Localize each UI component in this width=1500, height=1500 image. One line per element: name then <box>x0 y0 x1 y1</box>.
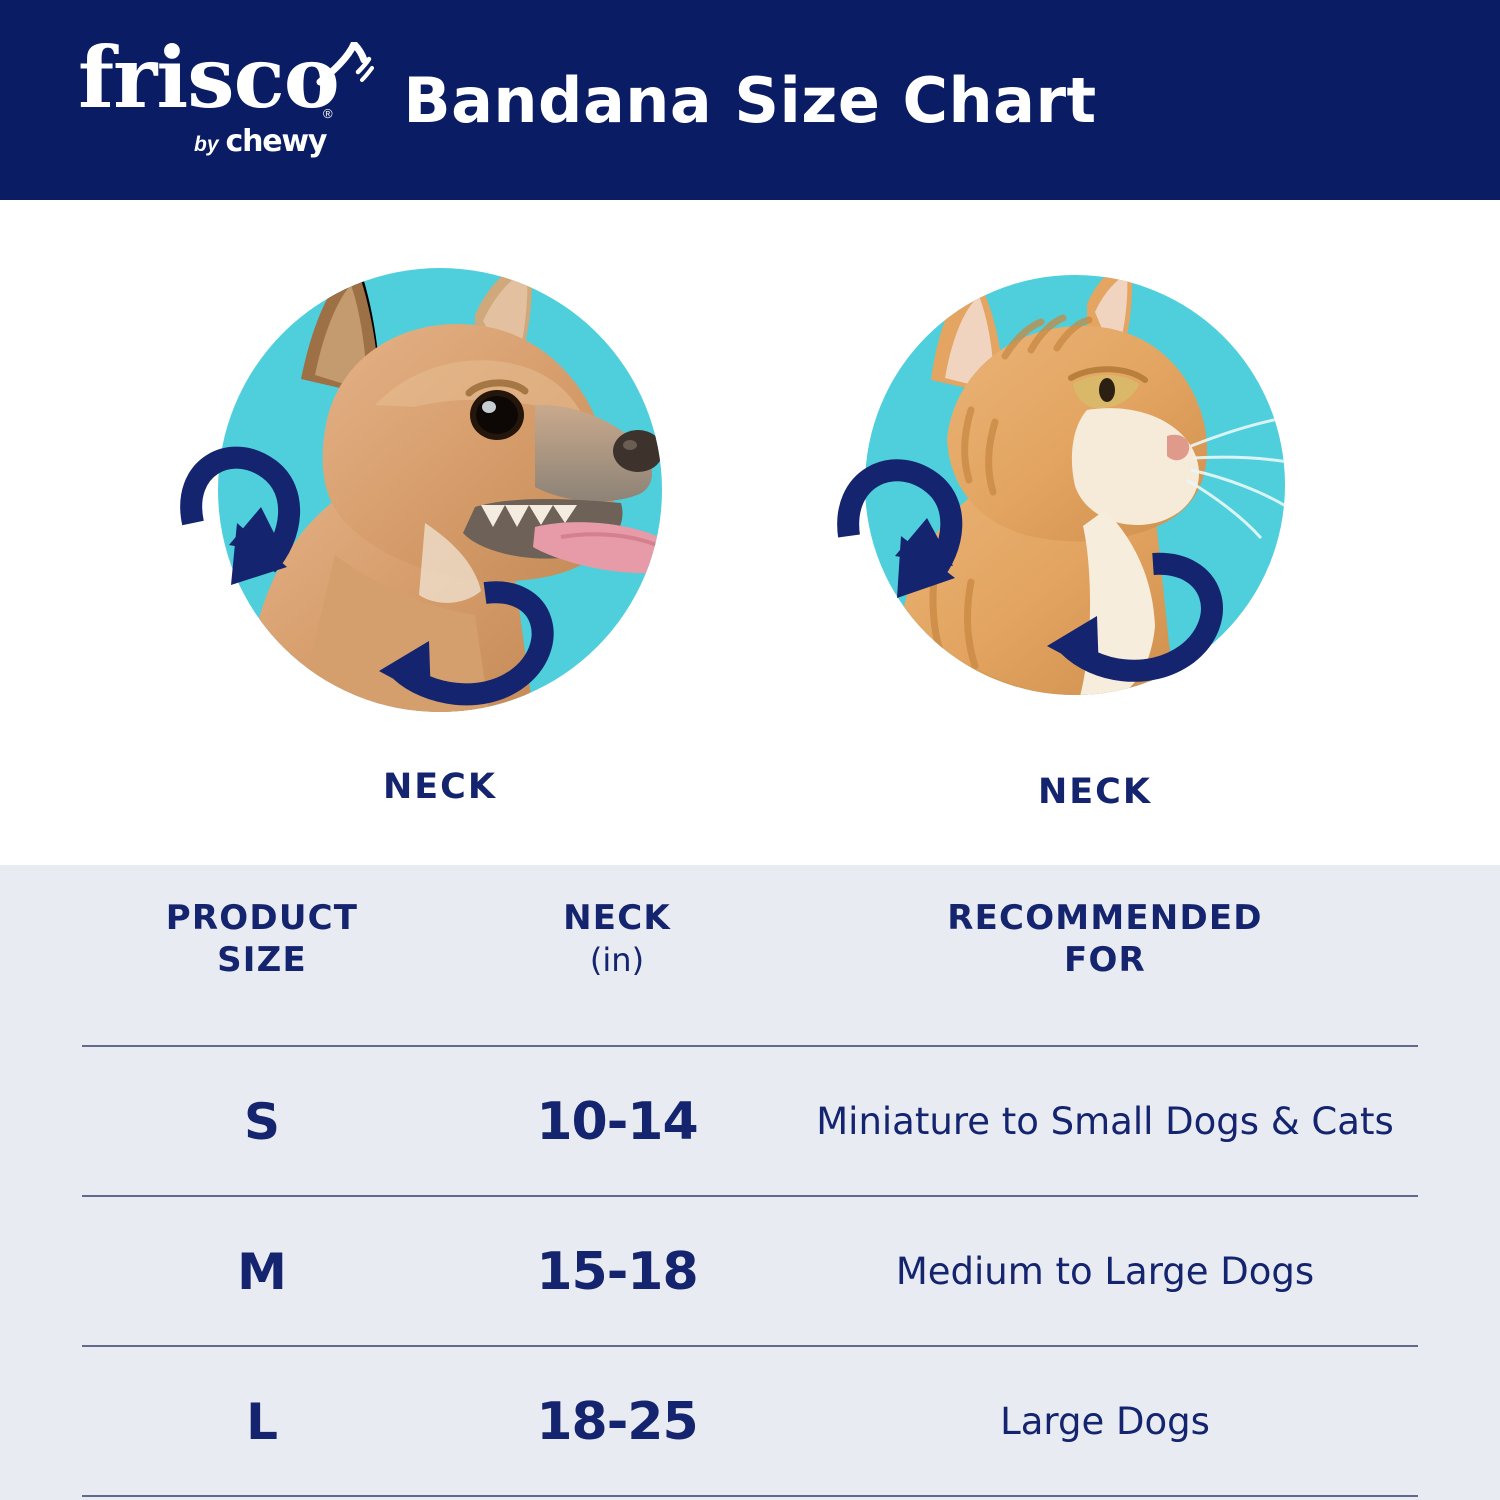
logo-swoosh-icon <box>314 42 374 88</box>
cell-recommended-m: Medium to Large Dogs <box>792 1248 1418 1296</box>
header-recommended-line1: RECOMMENDED <box>792 897 1418 939</box>
frisco-logo: frisco ® by chewy <box>70 36 390 166</box>
header-cell-neck: NECK (in) <box>442 897 792 981</box>
cat-illustration <box>835 260 1355 760</box>
table-row: M 15-18 Medium to Large Dogs <box>82 1197 1418 1347</box>
page-header: frisco ® by chewy Bandana Size Chart <box>0 0 1500 200</box>
header-cell-recommended-for: RECOMMENDED FOR <box>792 897 1418 981</box>
dog-measurement-figure: NECK <box>175 255 735 855</box>
table-row: L 18-25 Large Dogs <box>82 1347 1418 1497</box>
cat-neck-label: NECK <box>835 772 1355 812</box>
header-recommended-line2: FOR <box>792 939 1418 981</box>
cell-neck-m: 15-18 <box>442 1242 792 1302</box>
cell-neck-s: 10-14 <box>442 1092 792 1152</box>
header-cell-product-size: PRODUCT SIZE <box>82 897 442 981</box>
registered-mark: ® <box>323 106 333 121</box>
size-chart-page: frisco ® by chewy Bandana Size Chart <box>0 0 1500 1500</box>
cell-size-m: M <box>82 1243 442 1301</box>
size-table-section: PRODUCT SIZE NECK (in) RECOMMENDED FOR S… <box>0 865 1500 1500</box>
logo-byline: by chewy <box>194 124 326 159</box>
table-row: S 10-14 Miniature to Small Dogs & Cats <box>82 1047 1418 1197</box>
header-neck-line1: NECK <box>442 897 792 939</box>
illustration-band: NECK <box>0 200 1500 865</box>
logo-byline-prefix: by <box>194 133 219 157</box>
header-neck-unit: (in) <box>442 939 792 981</box>
logo-byline-brand: chewy <box>226 124 327 159</box>
cell-recommended-l: Large Dogs <box>792 1398 1418 1446</box>
cell-size-s: S <box>82 1093 442 1151</box>
header-product-size-line2: SIZE <box>82 939 442 981</box>
table-header-row: PRODUCT SIZE NECK (in) RECOMMENDED FOR <box>82 865 1418 1047</box>
size-table: PRODUCT SIZE NECK (in) RECOMMENDED FOR S… <box>82 865 1418 1497</box>
cell-neck-l: 18-25 <box>442 1392 792 1452</box>
row-divider <box>82 1495 1418 1497</box>
header-product-size-line1: PRODUCT <box>82 897 442 939</box>
cell-recommended-s: Miniature to Small Dogs & Cats <box>792 1098 1418 1146</box>
dog-illustration <box>175 255 705 755</box>
cat-measurement-figure: NECK <box>835 260 1395 860</box>
dog-neck-label: NECK <box>175 767 705 807</box>
cell-size-l: L <box>82 1393 442 1451</box>
logo-wordmark: frisco <box>78 36 339 120</box>
